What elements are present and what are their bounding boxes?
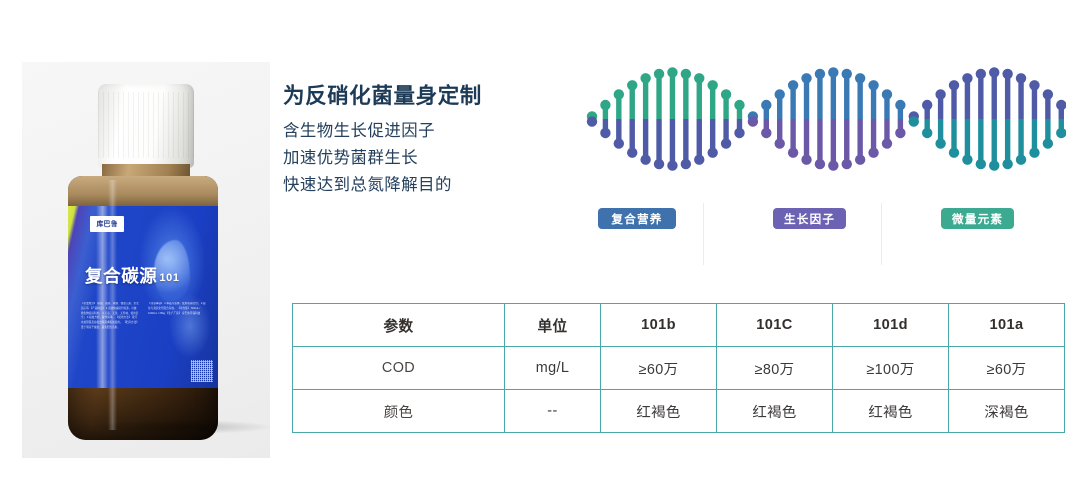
dna-helix-block [586,58,1066,188]
badge-divider-1 [703,203,704,265]
cell-unit: mg/L [505,347,601,390]
label-sheen [96,206,109,388]
copy-line-1: 含生物生长促进因子 [283,118,563,145]
spec-table: 参数 单位 101b 101C 101d 101a COD mg/L ≥60万 … [292,303,1065,433]
badge-row: 复合营养 生长因子 微量元素 [586,203,1066,267]
th-unit: 单位 [505,304,601,347]
label-sku: 101 [159,272,179,284]
product-photo: 库巴鲁 复合碳源101 【主要成分】 碳源、氮源、磷源、微量元素、生长因子等 【… [22,62,270,458]
bottle-drop-shadow [92,420,272,434]
feature-panel: 库巴鲁 复合碳源101 【主要成分】 碳源、氮源、磷源、微量元素、生长因子等 【… [0,0,1080,482]
cell-param: 颜色 [293,390,505,433]
bottle: 库巴鲁 复合碳源101 【主要成分】 碳源、氮源、磷源、微量元素、生长因子等 【… [62,84,224,440]
badge-growth-factor[interactable]: 生长因子 [773,208,846,229]
cell-unit: -- [505,390,601,433]
brand-logo-text: 库巴鲁 [96,219,117,229]
cell-value: ≥100万 [833,347,949,390]
dna-double-helix-icon [586,58,1066,180]
cell-value: 红褐色 [601,390,717,433]
cap-ridges [98,92,194,158]
label-fine-print-left: 【主要成分】 碳源、氮源、磷源、微量元素、生长因子等 【产品特点】 1.高效快速… [81,302,139,331]
cell-value: ≥60万 [601,347,717,390]
label-product-name: 复合碳源101 [85,263,180,288]
label-qr-code [191,360,213,382]
th-101d: 101d [833,304,949,347]
copy-line-2: 加速优势菌群生长 [283,145,563,172]
badge-divider-2 [881,203,882,265]
table-row: COD mg/L ≥60万 ≥80万 ≥100万 ≥60万 [293,347,1065,390]
cell-value: ≥80万 [717,347,833,390]
product-label: 库巴鲁 复合碳源101 【主要成分】 碳源、氮源、磷源、微量元素、生长因子等 【… [68,206,218,388]
cell-value: 红褐色 [833,390,949,433]
badge-compound-nutrition[interactable]: 复合营养 [598,208,676,229]
th-param: 参数 [293,304,505,347]
bottle-cap [98,84,194,168]
copy-line-3: 快速达到总氮降解目的 [283,172,563,199]
cell-value: 红褐色 [717,390,833,433]
page-title: 为反硝化菌量身定制 [283,84,563,109]
th-101a: 101a [949,304,1065,347]
cell-param: COD [293,347,505,390]
cell-value: 深褐色 [949,390,1065,433]
th-101b: 101b [601,304,717,347]
label-product-name-text: 复合碳源 [85,266,157,286]
label-fine-print-right: 【注意事项】 1.本品为液体，使用前请摇匀； 2.避免与强氧化剂混合存放。 【净… [148,302,206,316]
powder-layer [68,176,218,210]
brand-logo: 库巴鲁 [90,216,124,232]
table-row: 颜色 -- 红褐色 红褐色 红褐色 深褐色 [293,390,1065,433]
th-101c: 101C [717,304,833,347]
bottle-body: 库巴鲁 复合碳源101 【主要成分】 碳源、氮源、磷源、微量元素、生长因子等 【… [68,176,218,440]
badge-trace-elements[interactable]: 微量元素 [941,208,1014,229]
cell-value: ≥60万 [949,347,1065,390]
table-header-row: 参数 单位 101b 101C 101d 101a [293,304,1065,347]
copy-block: 为反硝化菌量身定制 含生物生长促进因子 加速优势菌群生长 快速达到总氮降解目的 [283,84,563,198]
